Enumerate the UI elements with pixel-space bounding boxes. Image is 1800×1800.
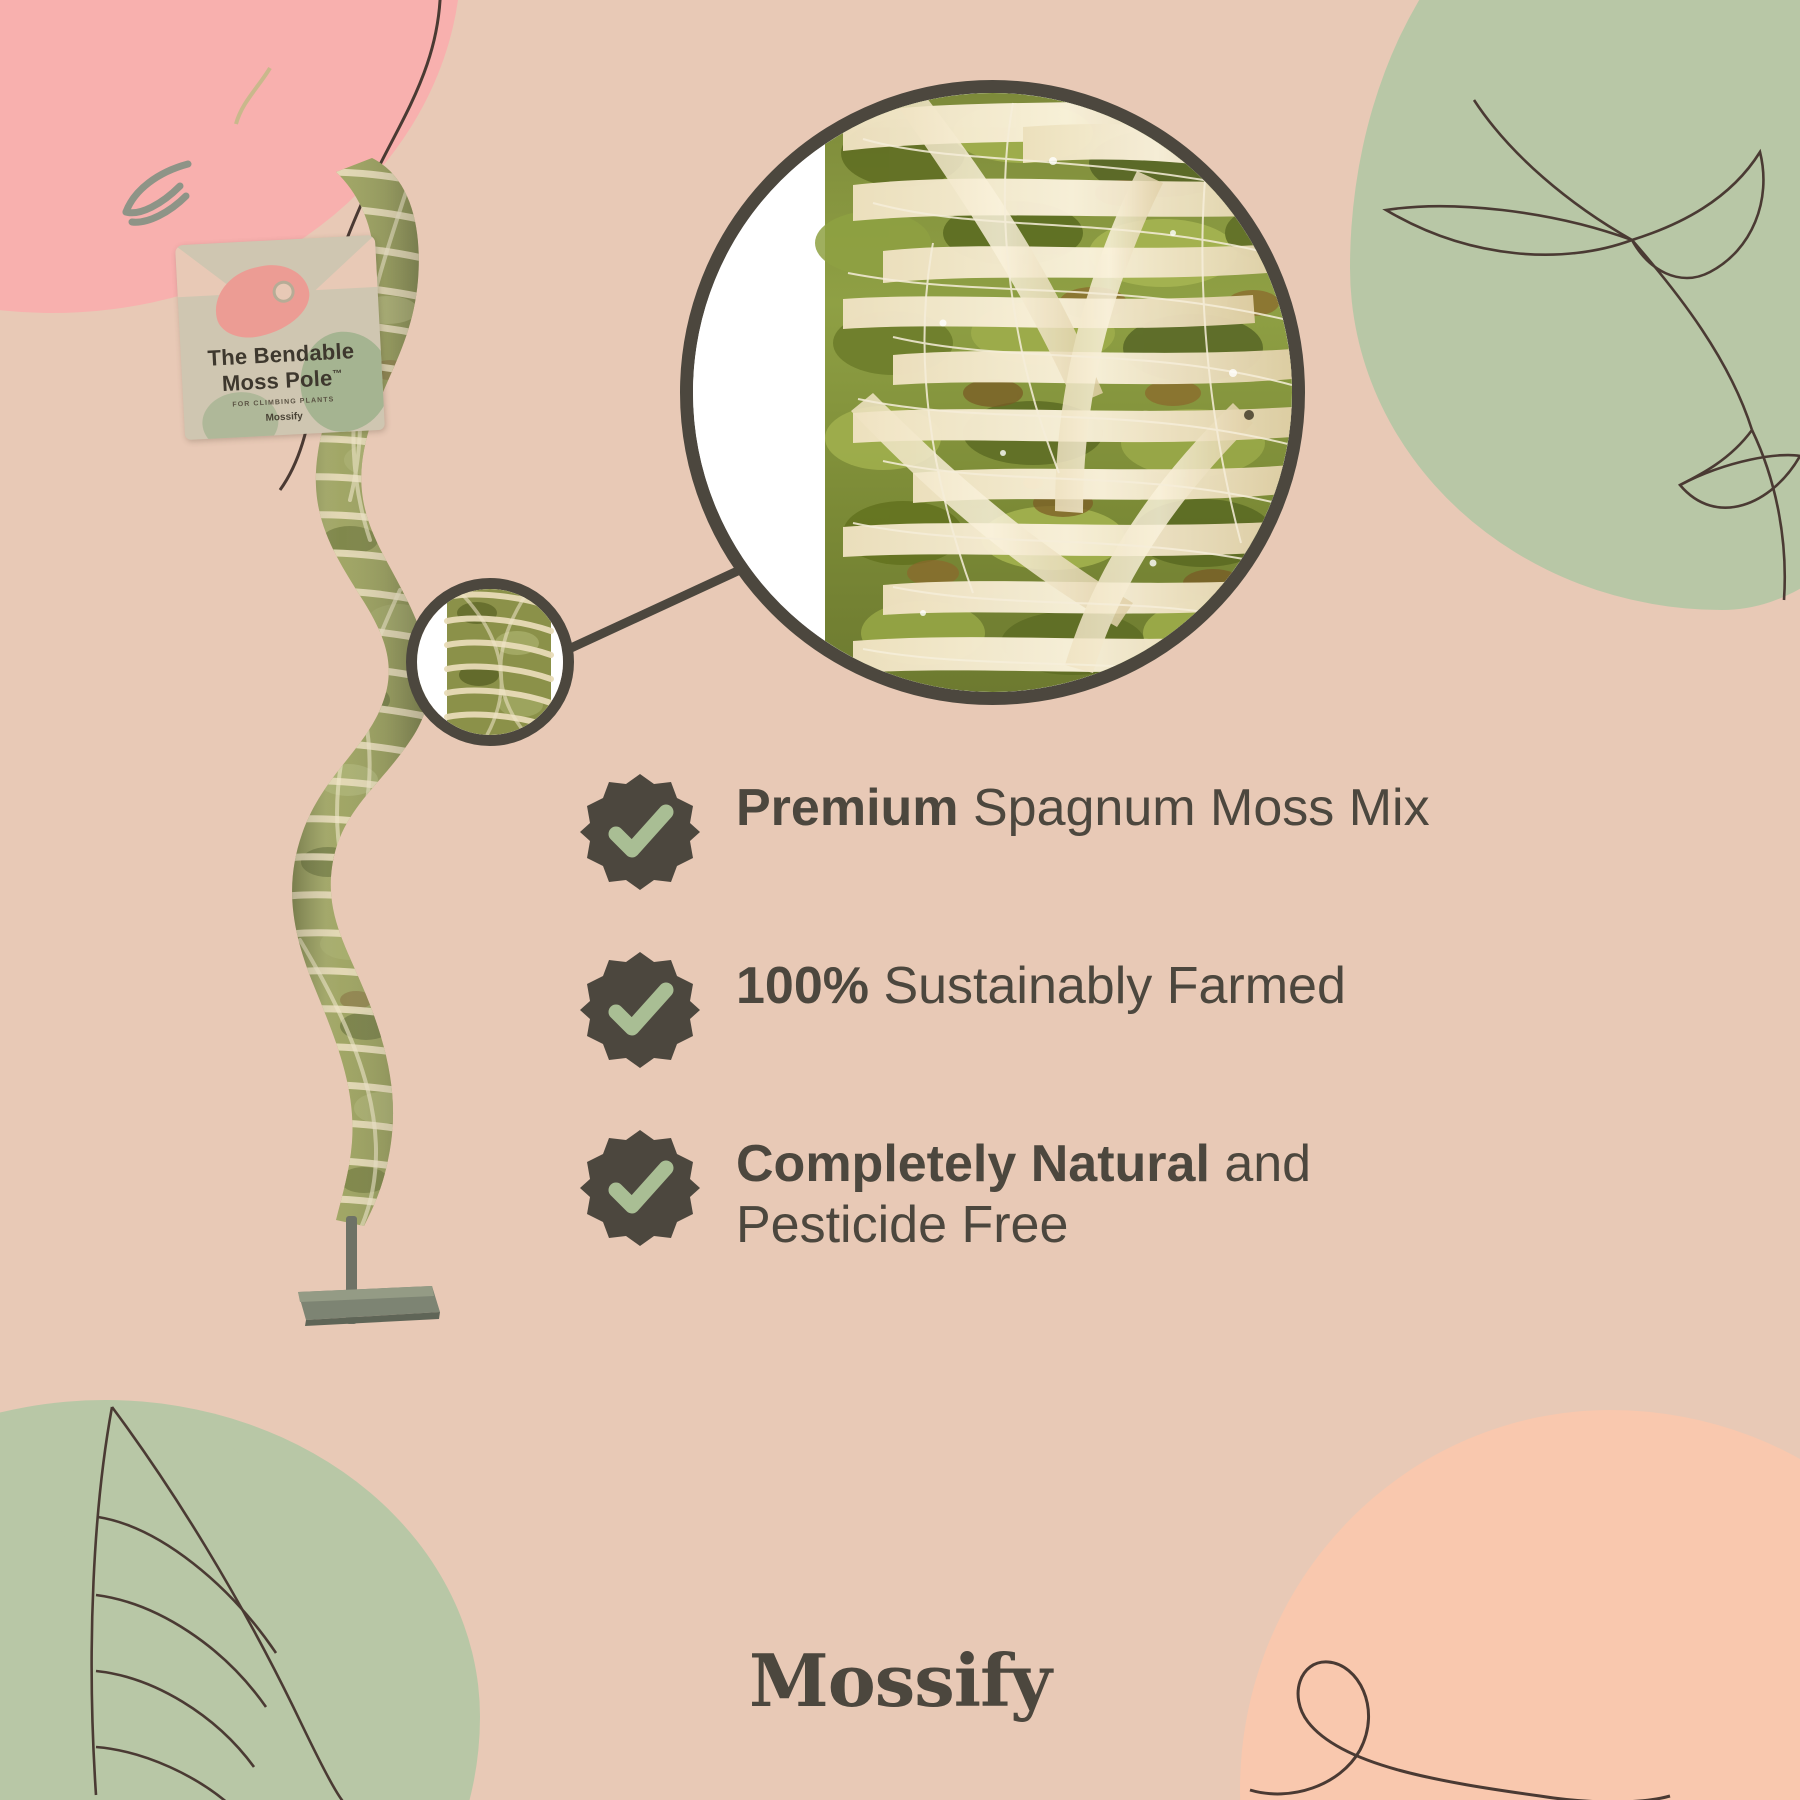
feature-text: Completely Natural and Pesticide Free bbox=[736, 1126, 1496, 1257]
tag-clip bbox=[118, 158, 196, 232]
decorative-blob-peach-bottom-right bbox=[1240, 1410, 1800, 1800]
tag-text-block: The Bendable Moss Pole™ FOR CLIMBING PLA… bbox=[180, 337, 383, 411]
moss-closeup-photo bbox=[693, 93, 1292, 692]
product-hang-tag: The Bendable Moss Pole™ FOR CLIMBING PLA… bbox=[175, 235, 385, 440]
check-badge-icon bbox=[580, 950, 700, 1070]
tag-notch-right bbox=[313, 235, 378, 290]
feature-text: 100% Sustainably Farmed bbox=[736, 948, 1346, 1017]
feature-highlight: Completely Natural bbox=[736, 1135, 1210, 1193]
magnifier-connector-line bbox=[556, 566, 746, 656]
check-badge-icon bbox=[580, 772, 700, 892]
decorative-leaf-line-bottom-left bbox=[40, 1395, 470, 1800]
magnifier-small-ring bbox=[406, 578, 574, 746]
base-plate bbox=[298, 1286, 440, 1326]
decorative-blob-green-bottom-left bbox=[0, 1400, 480, 1800]
decorative-pill-green bbox=[42, 1406, 264, 1584]
product-photo: The Bendable Moss Pole™ FOR CLIMBING PLA… bbox=[150, 120, 620, 1340]
tag-trademark-symbol: ™ bbox=[332, 368, 343, 380]
feature-highlight: Premium bbox=[736, 779, 959, 837]
feature-list: Premium Spagnum Moss Mix 100% Sustainabl… bbox=[580, 770, 1580, 1313]
tag-string bbox=[232, 66, 272, 126]
feature-item: Completely Natural and Pesticide Free bbox=[580, 1126, 1580, 1257]
decorative-blob-green-top-right bbox=[1350, 0, 1800, 610]
decorative-leaf-line-top-right bbox=[1380, 60, 1800, 620]
check-badge-icon bbox=[580, 1128, 700, 1248]
feature-highlight: 100% bbox=[736, 957, 869, 1015]
feature-rest: Spagnum Moss Mix bbox=[959, 779, 1430, 837]
magnifier-large-ring bbox=[680, 80, 1305, 705]
brand-logo: Mossify bbox=[0, 1638, 1800, 1723]
infographic-canvas: The Bendable Moss Pole™ FOR CLIMBING PLA… bbox=[0, 0, 1800, 1800]
magnifier-small-content bbox=[417, 589, 563, 735]
tag-title-line-2-text: Moss Pole bbox=[221, 365, 333, 396]
feature-item: 100% Sustainably Farmed bbox=[580, 948, 1580, 1070]
feature-rest: Sustainably Farmed bbox=[869, 957, 1346, 1015]
feature-item: Premium Spagnum Moss Mix bbox=[580, 770, 1580, 892]
feature-text: Premium Spagnum Moss Mix bbox=[736, 770, 1430, 839]
